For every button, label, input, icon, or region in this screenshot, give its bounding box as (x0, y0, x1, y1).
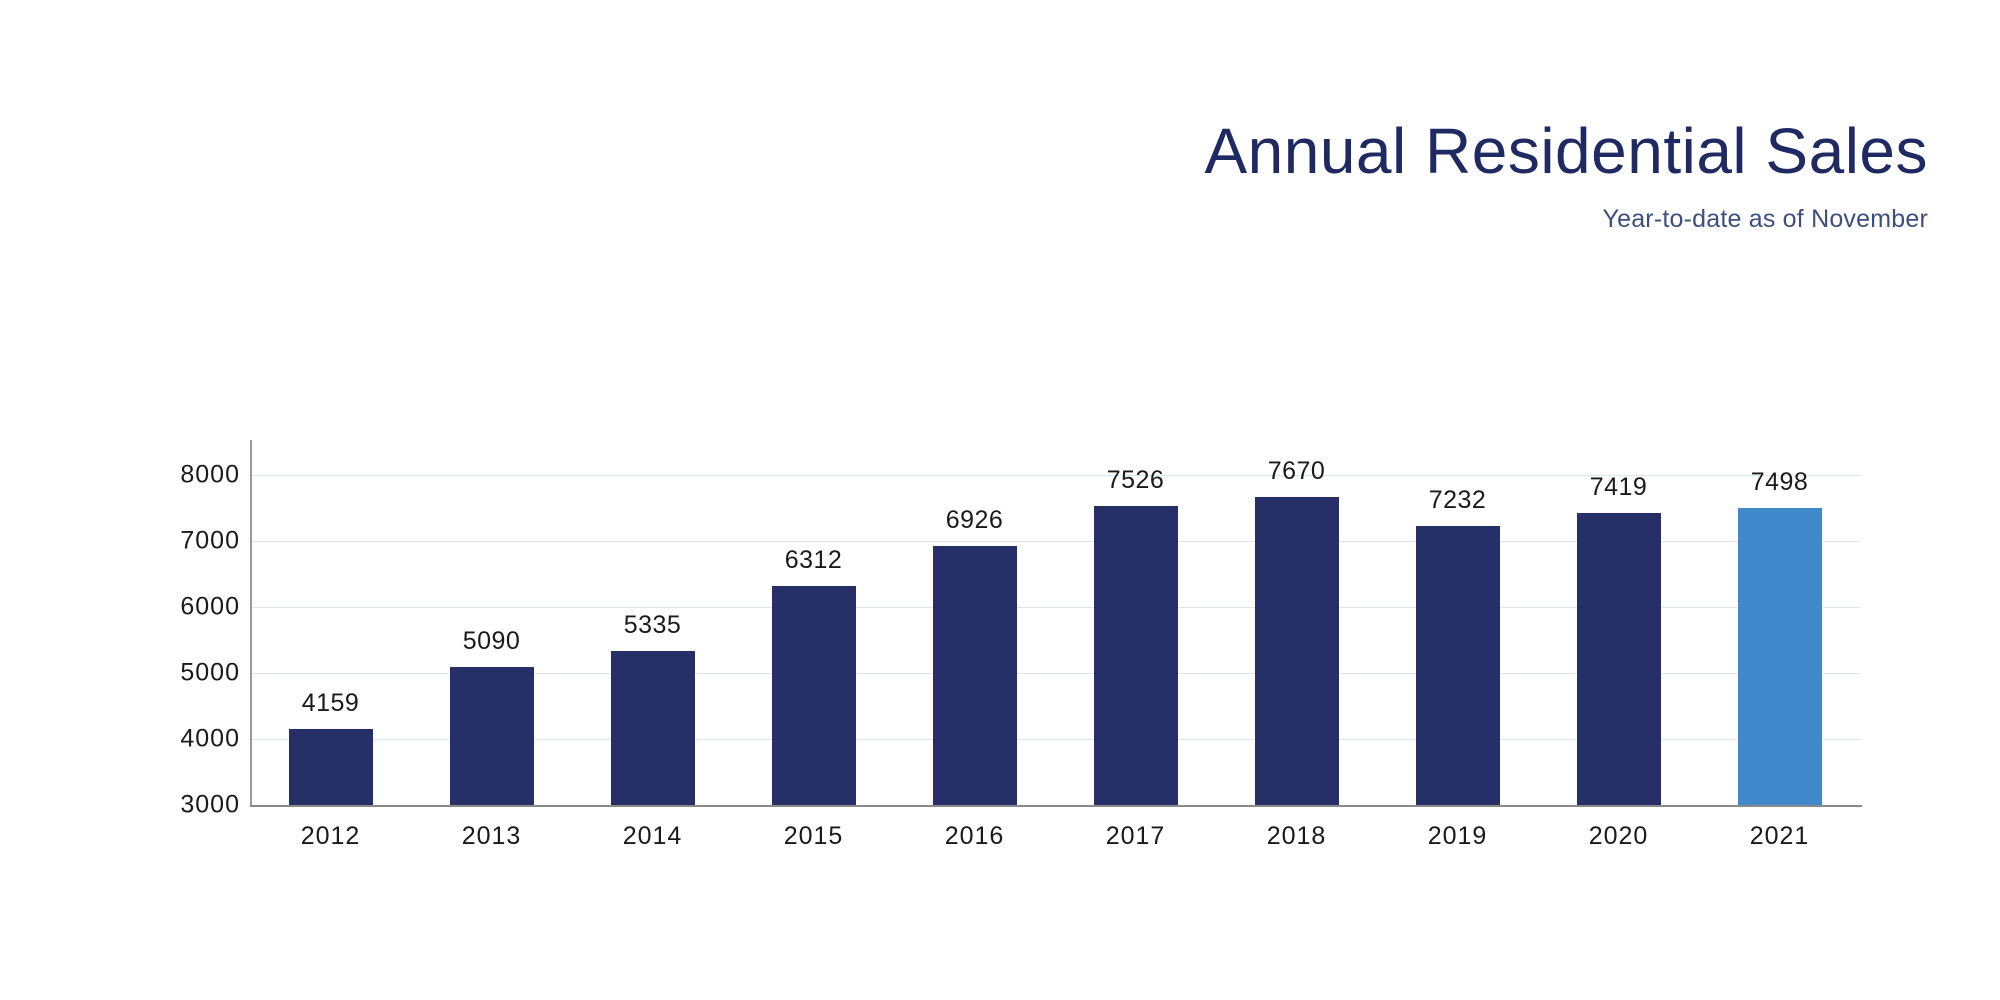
bar-slot: 7419 (1538, 440, 1699, 805)
bar-slot: 5335 (572, 440, 733, 805)
bar-slot: 6926 (894, 440, 1055, 805)
y-axis-tick-label: 6000 (130, 593, 240, 622)
bar-2020[interactable]: 7419 (1577, 513, 1661, 805)
x-axis-tick-label: 2014 (572, 822, 733, 851)
page-title: Annual Residential Sales (0, 118, 1928, 185)
y-axis-tick-label: 7000 (130, 527, 240, 556)
bar-slot: 6312 (733, 440, 894, 805)
y-axis-tick-label: 5000 (130, 659, 240, 688)
bar-slot: 7526 (1055, 440, 1216, 805)
x-axis-tick-label: 2017 (1055, 822, 1216, 851)
bar-slot: 7232 (1377, 440, 1538, 805)
bar-value-label: 6312 (785, 546, 843, 575)
y-axis-tick-label: 8000 (130, 461, 240, 490)
x-axis-tick-label: 2012 (250, 822, 411, 851)
bar-value-label: 7498 (1751, 468, 1809, 497)
bar-value-label: 7670 (1268, 457, 1326, 486)
bar-value-label: 5090 (463, 627, 521, 656)
bar-2018[interactable]: 7670 (1255, 497, 1339, 805)
bar-2019[interactable]: 7232 (1416, 526, 1500, 805)
bar-2016[interactable]: 6926 (933, 546, 1017, 805)
x-axis-tick-label: 2016 (894, 822, 1055, 851)
y-axis-tick-label: 4000 (130, 725, 240, 754)
bar-value-label: 7419 (1590, 473, 1648, 502)
bar-value-label: 7526 (1107, 466, 1165, 495)
bar-value-label: 6926 (946, 506, 1004, 535)
y-axis-tick-label: 3000 (130, 791, 240, 820)
bar-2017[interactable]: 7526 (1094, 506, 1178, 805)
x-axis-tick-label: 2015 (733, 822, 894, 851)
bar-2015[interactable]: 6312 (772, 586, 856, 805)
x-axis-tick-label: 2019 (1377, 822, 1538, 851)
y-axis-tick-labels: 300040005000600070008000 (120, 0, 240, 1000)
annual-residential-sales-chart: Annual Residential Sales Year-to-date as… (0, 0, 2000, 1000)
chart-header: Annual Residential Sales Year-to-date as… (0, 0, 2000, 234)
bar-value-label: 4159 (302, 689, 360, 718)
chart-subtitle: Year-to-date as of November (0, 185, 1928, 234)
x-axis-tick-label: 2013 (411, 822, 572, 851)
bar-2021[interactable]: 7498 (1738, 508, 1822, 805)
bar-slot: 7498 (1699, 440, 1860, 805)
x-axis-tick-label: 2021 (1699, 822, 1860, 851)
x-axis-tick-labels: 2012201320142015201620172018201920202021 (250, 822, 1860, 851)
bar-slot: 4159 (250, 440, 411, 805)
bar-2013[interactable]: 5090 (450, 667, 534, 805)
bar-slot: 7670 (1216, 440, 1377, 805)
bar-value-label: 5335 (624, 611, 682, 640)
bar-2014[interactable]: 5335 (611, 651, 695, 805)
bar-slot: 5090 (411, 440, 572, 805)
bar-series: 4159509053356312692675267670723274197498 (250, 440, 1860, 805)
bar-2012[interactable]: 4159 (289, 729, 373, 805)
x-axis-tick-label: 2018 (1216, 822, 1377, 851)
bar-value-label: 7232 (1429, 486, 1487, 515)
x-axis-line (250, 805, 1862, 807)
x-axis-tick-label: 2020 (1538, 822, 1699, 851)
